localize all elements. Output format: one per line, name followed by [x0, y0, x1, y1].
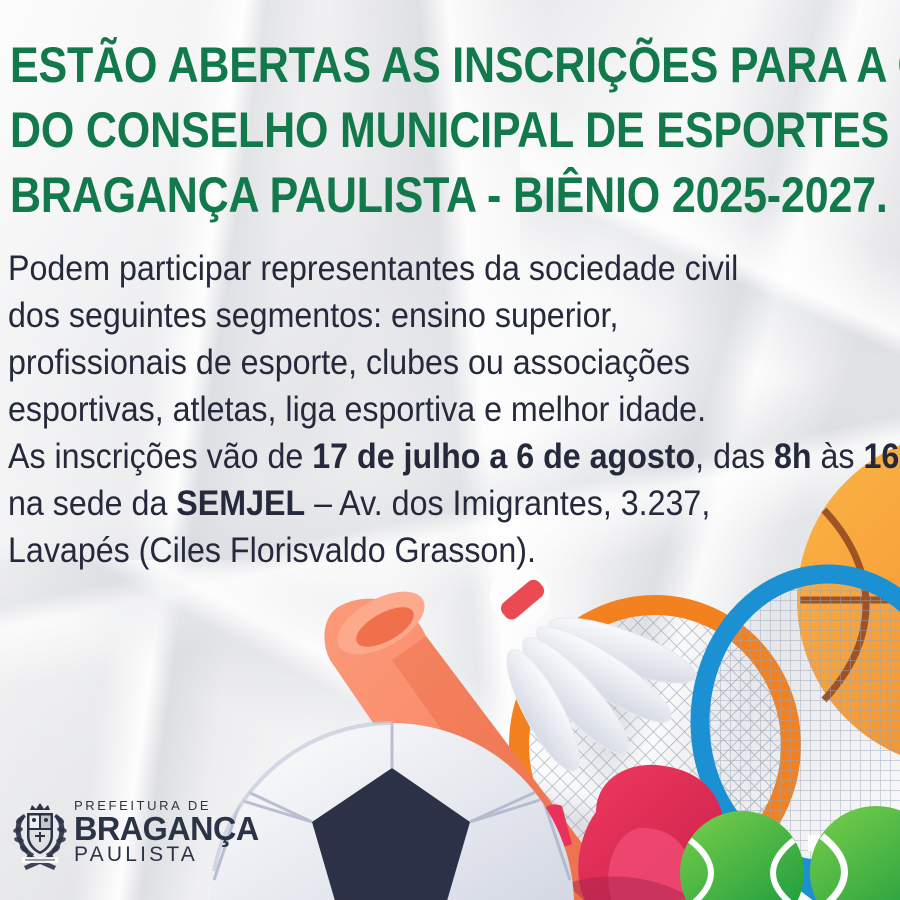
body-line-5: As inscrições vão de 17 de julho a 6 de …: [8, 433, 818, 480]
headline-line-1: ESTÃO ABERTAS AS INSCRIÇÕES PARA A COMPO…: [10, 33, 771, 98]
prefeitura-logo: PREFEITURA DE BRAGANÇA PAULISTA: [12, 798, 227, 876]
coat-of-arms-crest-icon: [12, 800, 68, 872]
body-line-4: esportivas, atletas, liga esportiva e me…: [8, 386, 818, 433]
body-line-6-part-a: na sede da: [8, 484, 176, 523]
body-copy: Podem participar representantes da socie…: [8, 245, 818, 574]
headline: ESTÃO ABERTAS AS INSCRIÇÕES PARA A COMPO…: [10, 33, 771, 228]
body-line-6: na sede da SEMJEL – Av. dos Imigrantes, …: [8, 480, 818, 527]
body-line-2: dos seguintes segmentos: ensino superior…: [8, 292, 818, 339]
body-line-1: Podem participar representantes da socie…: [8, 245, 818, 292]
headline-line-2: DO CONSELHO MUNICIPAL DE ESPORTES E LAZE…: [10, 98, 771, 163]
body-line-6-part-c: – Av. dos Imigrantes, 3.237,: [305, 484, 710, 523]
body-line-7: Lavapés (Ciles Florisvaldo Grasson).: [8, 527, 818, 574]
semjel-label: SEMJEL: [176, 484, 305, 523]
end-time: 16h30: [863, 437, 900, 476]
poster-canvas: ESTÃO ABERTAS AS INSCRIÇÕES PARA A COMPO…: [0, 0, 900, 900]
logo-line-braganca: BRAGANÇA: [74, 813, 221, 844]
body-line-5-part-e: às: [812, 437, 864, 476]
body-line-5-part-a: As inscrições vão de: [8, 437, 312, 476]
body-line-5-part-c: , das: [695, 437, 774, 476]
headline-line-3: BRAGANÇA PAULISTA - BIÊNIO 2025-2027.: [10, 163, 771, 228]
logo-line-paulista: PAULISTA: [74, 844, 224, 866]
start-time: 8h: [774, 437, 812, 476]
logo-text: PREFEITURA DE BRAGANÇA PAULISTA: [74, 798, 224, 866]
body-line-3: profissionais de esporte, clubes ou asso…: [8, 339, 818, 386]
registration-period: 17 de julho a 6 de agosto: [312, 437, 695, 476]
